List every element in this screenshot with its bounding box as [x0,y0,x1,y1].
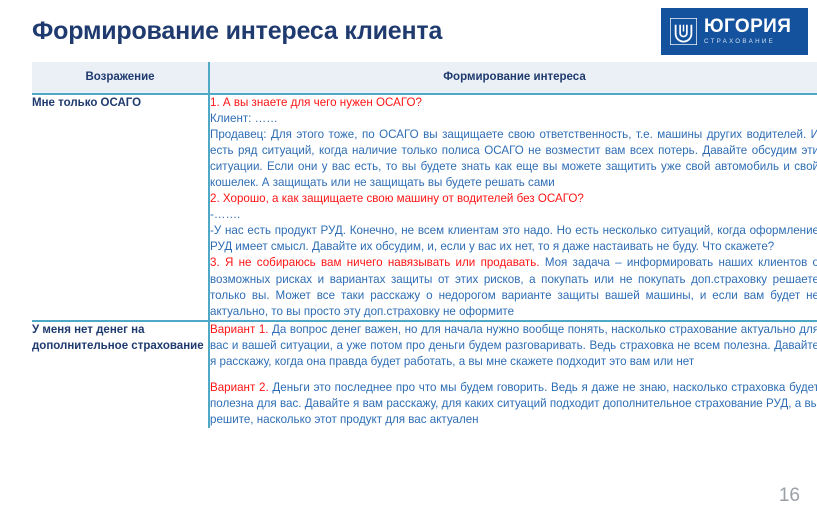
slide-header: Формирование интереса клиента ЮГОРИЯ СТР… [0,0,817,62]
paragraph-lead: 1. А вы знаете для чего нужен ОСАГО? [210,96,422,109]
table-header: Возражение Формирование интереса [32,62,817,94]
paragraph-body: -……. [210,208,240,221]
table-row: Мне только ОСАГО1. А вы знаете для чего … [32,94,817,321]
interest-paragraph: 1. А вы знаете для чего нужен ОСАГО? [210,95,817,111]
interest-paragraph: Продавец: Для этого тоже, по ОСАГО вы за… [210,127,817,191]
objections-table: Возражение Формирование интереса Мне тол… [32,62,817,428]
column-header-objection: Возражение [32,62,209,94]
objection-cell: У меня нет денег на дополнительное страх… [32,321,209,428]
table-row: У меня нет денег на дополнительное страх… [32,321,817,428]
paragraph-body: Клиент: …… [210,112,278,125]
interest-paragraph: 3. Я не собираюсь вам ничего навязывать … [210,255,817,319]
brand-name: ЮГОРИЯ [704,17,791,36]
paragraph-body: Да вопрос денег важен, но для начала нуж… [210,323,817,368]
yugoria-u-icon [670,18,697,45]
page-title: Формирование интереса клиента [32,17,442,46]
brand-logo-text: ЮГОРИЯ СТРАХОВАНИЕ [704,17,791,45]
brand-subtitle: СТРАХОВАНИЕ [704,39,791,45]
paragraph-body: Продавец: Для этого тоже, по ОСАГО вы за… [210,128,817,189]
paragraph-lead: Вариант 2. [210,381,269,394]
slide: Формирование интереса клиента ЮГОРИЯ СТР… [0,0,817,513]
paragraph-lead: Вариант 1. [210,323,269,336]
interest-paragraph: 2. Хорошо, а как защищаете свою машину о… [210,191,817,207]
interest-cell: 1. А вы знаете для чего нужен ОСАГО?Клие… [209,94,817,321]
column-header-interest: Формирование интереса [209,62,817,94]
paragraph-body: Деньги это последнее про что мы будем го… [210,381,817,426]
interest-paragraph: Вариант 1. Да вопрос денег важен, но для… [210,322,817,370]
interest-cell: Вариант 1. Да вопрос денег важен, но для… [209,321,817,428]
interest-paragraph: Вариант 2. Деньги это последнее про что … [210,380,817,428]
paragraph-body: -У нас есть продукт РУД. Конечно, не все… [210,224,817,253]
interest-paragraph: -У нас есть продукт РУД. Конечно, не все… [210,223,817,255]
brand-logo: ЮГОРИЯ СТРАХОВАНИЕ [661,8,808,55]
paragraph-lead: 2. Хорошо, а как защищаете свою машину о… [210,192,584,205]
interest-paragraph: -……. [210,207,817,223]
page-number: 16 [779,485,800,507]
paragraph-lead: 3. Я не собираюсь вам ничего навязывать … [210,256,540,269]
objection-cell: Мне только ОСАГО [32,94,209,321]
table-header-row: Возражение Формирование интереса [32,62,817,94]
interest-paragraph: Клиент: …… [210,111,817,127]
table-body: Мне только ОСАГО1. А вы знаете для чего … [32,94,817,428]
